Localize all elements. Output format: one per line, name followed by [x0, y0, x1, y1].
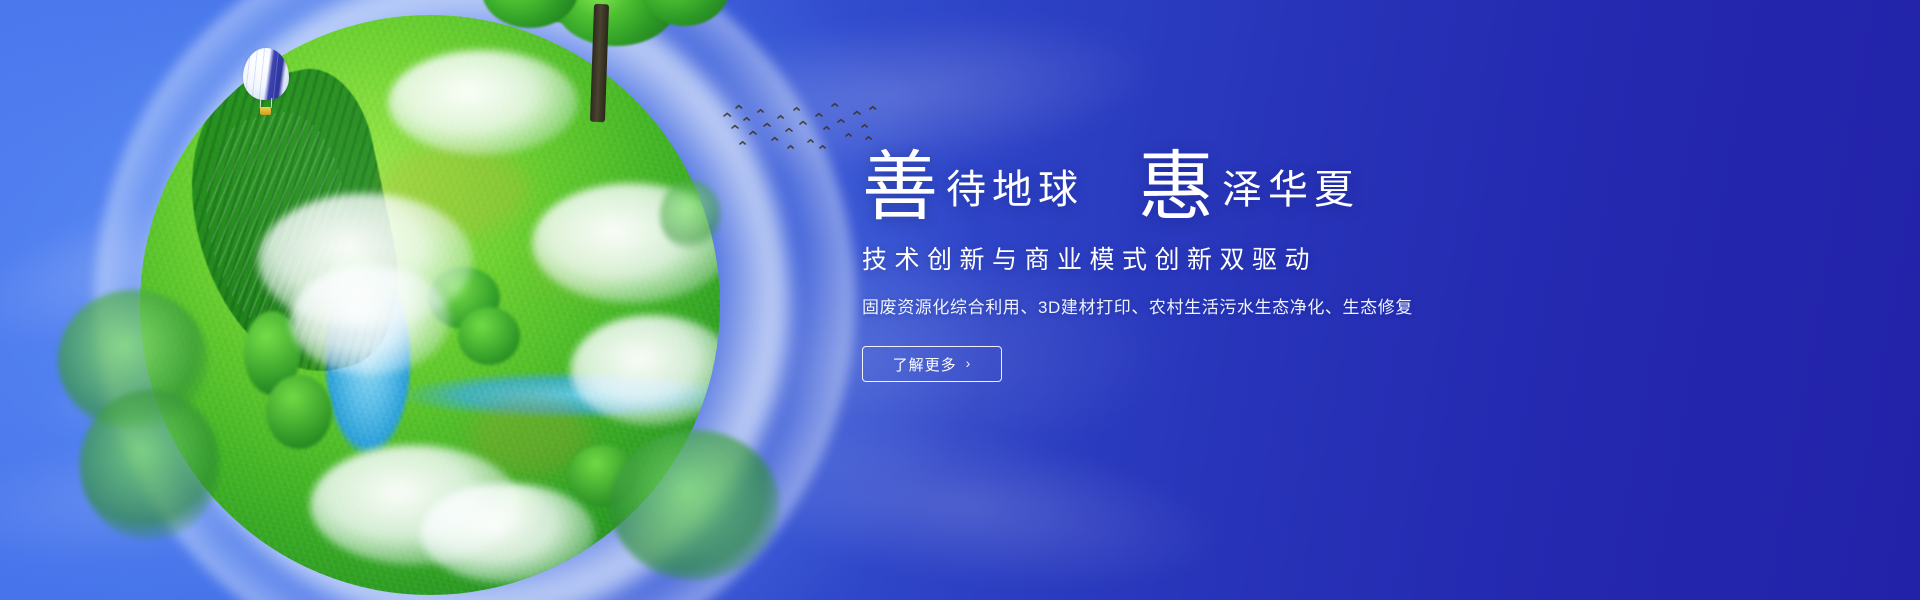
- tree-trunk: [590, 4, 609, 122]
- tree-icon: [80, 390, 220, 540]
- balloon-envelope: [243, 48, 289, 100]
- hero-tagline: 技术创新与商业模式创新双驱动: [862, 240, 1562, 276]
- tree-icon: [660, 180, 720, 250]
- hero-banner: 善 待地球 惠 泽华夏 技术创新与商业模式创新双驱动 固废资源化综合利用、3D建…: [0, 0, 1920, 600]
- headline-small-chars-1: 待地球: [946, 170, 1084, 210]
- page-title: 善 待地球 惠 泽华夏: [862, 128, 1562, 218]
- headline-small-chars-2: 泽华夏: [1222, 170, 1360, 210]
- tree-icon: [470, 0, 720, 118]
- tree-icon: [458, 307, 520, 365]
- bird-flock-icon: [720, 98, 880, 168]
- balloon-basket: [260, 107, 271, 115]
- hero-content: 善 待地球 惠 泽华夏 技术创新与商业模式创新双驱动 固废资源化综合利用、3D建…: [862, 128, 1562, 382]
- cloud-icon: [420, 483, 595, 583]
- tree-icon: [266, 375, 332, 449]
- headline-large-char-1: 善: [862, 152, 938, 222]
- learn-more-button[interactable]: 了解更多 ›: [862, 346, 1002, 382]
- headline-large-char-2: 惠: [1138, 152, 1214, 222]
- cloud-icon: [290, 265, 450, 375]
- chevron-right-icon: ›: [966, 356, 972, 370]
- green-earth-tiny-planet: [140, 0, 720, 600]
- hot-air-balloon-icon: [243, 48, 289, 116]
- tree-icon: [610, 430, 780, 580]
- hero-description: 固废资源化综合利用、3D建材打印、农村生活污水生态净化、生态修复: [862, 293, 1562, 318]
- learn-more-label: 了解更多: [893, 354, 957, 375]
